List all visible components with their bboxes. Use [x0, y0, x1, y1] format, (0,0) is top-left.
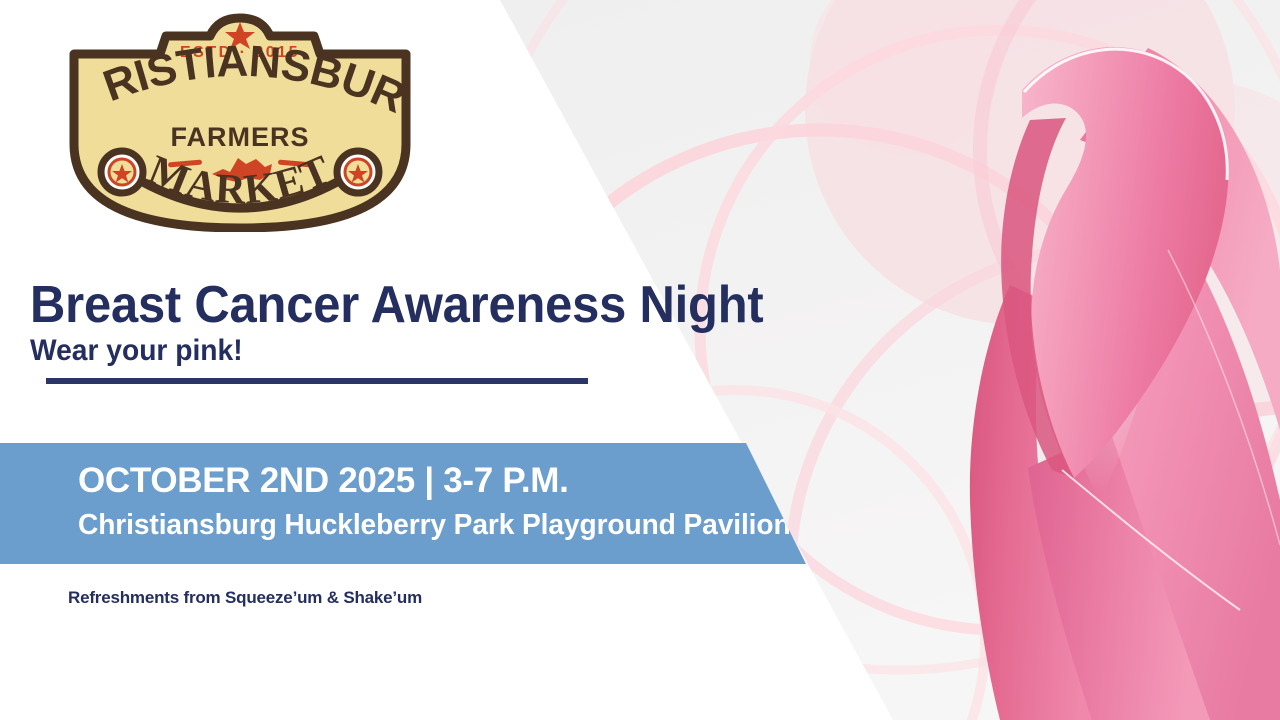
event-info-banner: OCTOBER 2ND 2025 | 3-7 P.M. Christiansbu… [0, 443, 810, 564]
logo-secondary-word-text: FARMERS [170, 122, 309, 152]
logo-right-star-medallion-icon [337, 151, 379, 193]
refreshments-note: Refreshments from Squeeze’um & Shake’um [68, 588, 422, 608]
page-title: Breast Cancer Awareness Night [30, 278, 688, 332]
event-date-time: OCTOBER 2ND 2025 | 3-7 P.M. [78, 461, 569, 501]
logo-secondary-word: FARMERS [170, 122, 309, 152]
headline-block: Breast Cancer Awareness Night Wear your … [30, 278, 730, 368]
farmers-market-logo: ESTD · 2015 CHRISTIANSBURG FARMERS MARKE… [60, 12, 420, 232]
flyer-canvas: ESTD · 2015 CHRISTIANSBURG FARMERS MARKE… [0, 0, 1280, 720]
headline-underline-rule [46, 378, 588, 384]
event-venue: Christiansburg Huckleberry Park Playgrou… [78, 509, 791, 542]
logo-left-star-medallion-icon [101, 151, 143, 193]
page-subtitle: Wear your pink! [30, 334, 688, 368]
